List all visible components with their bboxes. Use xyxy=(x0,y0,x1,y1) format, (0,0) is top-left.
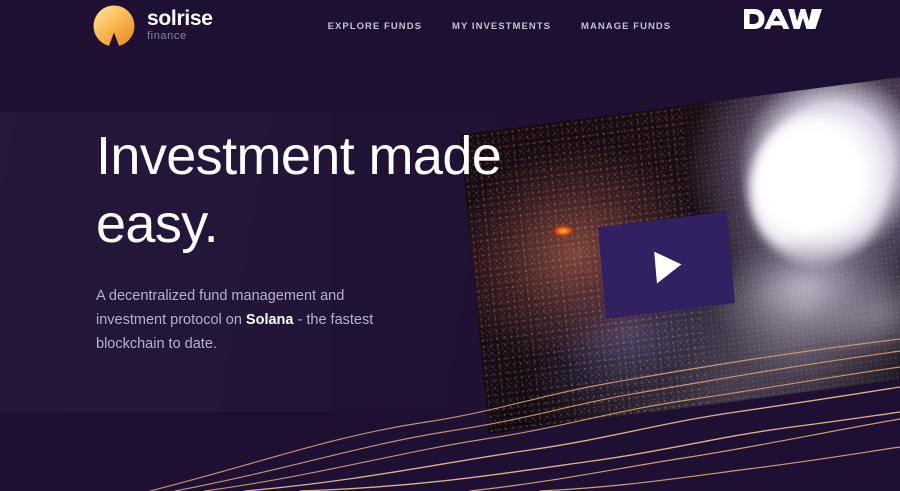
smoke-texture xyxy=(708,224,900,403)
nav-explore-funds[interactable]: EXPLORE FUNDS xyxy=(328,21,422,32)
nav-my-investments[interactable]: MY INVESTMENTS xyxy=(452,21,551,32)
brand-tagline: finance xyxy=(147,31,213,42)
nav-manage-funds[interactable]: MANAGE FUNDS xyxy=(581,21,671,32)
page-root: solrise finance EXPLORE FUNDS MY INVESTM… xyxy=(0,0,900,491)
hero-subheading: A decentralized fund management and inve… xyxy=(96,284,408,356)
dawn-logo[interactable] xyxy=(744,8,822,30)
play-triangle-icon xyxy=(654,248,683,283)
headline-line-1: Investment made xyxy=(96,126,501,186)
glowing-orb xyxy=(742,106,893,273)
brand-name: solrise xyxy=(147,8,213,29)
site-header: solrise finance EXPLORE FUNDS MY INVESTM… xyxy=(0,0,900,52)
creature-eye-right-icon xyxy=(597,228,616,238)
headline-line-2: easy. xyxy=(96,194,218,254)
subhead-highlight: Solana xyxy=(246,312,294,328)
brand-logo[interactable]: solrise finance xyxy=(92,5,213,47)
hero-copy: Investment made easy. A decentralized fu… xyxy=(96,122,566,356)
main-navigation: EXPLORE FUNDS MY INVESTMENTS MANAGE FUND… xyxy=(328,21,672,32)
play-button[interactable] xyxy=(598,211,735,319)
brand-text: solrise finance xyxy=(147,8,213,44)
page-title: Investment made easy. xyxy=(96,122,566,258)
solrise-mountain-circle-icon xyxy=(92,5,136,47)
